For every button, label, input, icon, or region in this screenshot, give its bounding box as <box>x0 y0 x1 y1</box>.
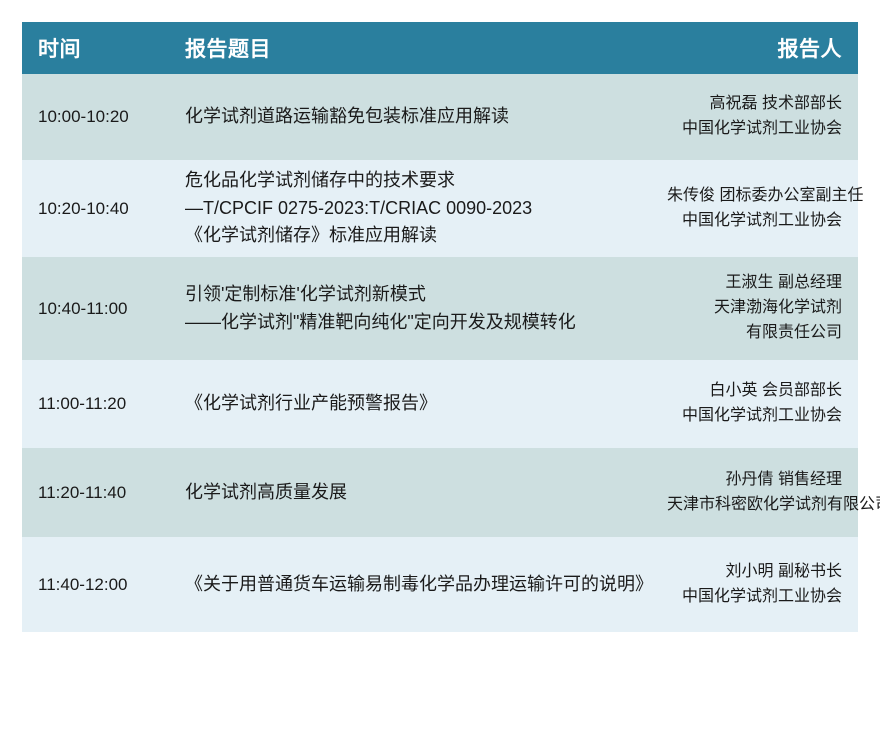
speaker-organization: 中国化学试剂工业协会 <box>667 117 842 142</box>
session-time: 11:20-11:40 <box>22 448 177 537</box>
table-header-row: 时间 报告题目 报告人 <box>22 22 858 74</box>
speaker-organization: 中国化学试剂工业协会 <box>667 209 842 234</box>
speaker-name-title: 高祝磊 技术部部长 <box>667 92 842 117</box>
table-row: 11:20-11:40 化学试剂高质量发展 孙丹倩 销售经理 天津市科密欧化学试… <box>22 448 858 537</box>
session-title-line: 化学试剂高质量发展 <box>185 479 667 507</box>
session-title: 危化品化学试剂储存中的技术要求 —T/CPCIF 0275-2023:T/CRI… <box>177 160 667 257</box>
session-title-line: 《关于用普通货车运输易制毒化学品办理运输许可的说明》 <box>185 571 667 599</box>
session-speaker: 王淑生 副总经理 天津渤海化学试剂 有限责任公司 <box>667 257 858 360</box>
session-title: 引领'定制标准'化学试剂新模式 ——化学试剂"精准靶向纯化"定向开发及规模转化 <box>177 257 667 360</box>
speaker-organization: 天津渤海化学试剂 <box>667 296 842 321</box>
speaker-organization: 天津市科密欧化学试剂有限公司 <box>667 493 842 518</box>
session-speaker: 孙丹倩 销售经理 天津市科密欧化学试剂有限公司 <box>667 448 858 537</box>
column-header-time: 时间 <box>22 22 177 74</box>
table-row: 10:00-10:20 化学试剂道路运输豁免包装标准应用解读 高祝磊 技术部部长… <box>22 74 858 160</box>
session-title: 化学试剂高质量发展 <box>177 448 667 537</box>
session-speaker: 白小英 会员部部长 中国化学试剂工业协会 <box>667 360 858 448</box>
session-speaker: 刘小明 副秘书长 中国化学试剂工业协会 <box>667 537 858 632</box>
session-title-line: ——化学试剂"精准靶向纯化"定向开发及规模转化 <box>185 309 667 337</box>
session-title-line: 《化学试剂储存》标准应用解读 <box>185 222 667 250</box>
table-row: 10:20-10:40 危化品化学试剂储存中的技术要求 —T/CPCIF 027… <box>22 160 858 257</box>
speaker-name-title: 白小英 会员部部长 <box>667 379 842 404</box>
session-title-line: 引领'定制标准'化学试剂新模式 <box>185 281 667 309</box>
table-row: 11:40-12:00 《关于用普通货车运输易制毒化学品办理运输许可的说明》 刘… <box>22 537 858 632</box>
table-row: 11:00-11:20 《化学试剂行业产能预警报告》 白小英 会员部部长 中国化… <box>22 360 858 448</box>
speaker-organization: 中国化学试剂工业协会 <box>667 404 842 429</box>
session-title-line: 《化学试剂行业产能预警报告》 <box>185 390 667 418</box>
speaker-name-title: 王淑生 副总经理 <box>667 271 842 296</box>
column-header-title: 报告题目 <box>177 22 667 74</box>
column-header-speaker: 报告人 <box>667 22 858 74</box>
session-time: 10:00-10:20 <box>22 74 177 160</box>
session-title: 化学试剂道路运输豁免包装标准应用解读 <box>177 74 667 160</box>
speaker-organization-cont: 有限责任公司 <box>667 321 842 346</box>
session-speaker: 朱传俊 团标委办公室副主任 中国化学试剂工业协会 <box>667 160 858 257</box>
session-time: 11:00-11:20 <box>22 360 177 448</box>
session-time: 10:40-11:00 <box>22 257 177 360</box>
speaker-name-title: 孙丹倩 销售经理 <box>667 468 842 493</box>
speaker-organization: 中国化学试剂工业协会 <box>667 585 842 610</box>
speaker-name-title: 朱传俊 团标委办公室副主任 <box>667 184 842 209</box>
table-body: 10:00-10:20 化学试剂道路运输豁免包装标准应用解读 高祝磊 技术部部长… <box>22 74 858 632</box>
table-row: 10:40-11:00 引领'定制标准'化学试剂新模式 ——化学试剂"精准靶向纯… <box>22 257 858 360</box>
session-time: 11:40-12:00 <box>22 537 177 632</box>
conference-agenda-table: 时间 报告题目 报告人 10:00-10:20 化学试剂道路运输豁免包装标准应用… <box>22 22 858 632</box>
session-title-line: —T/CPCIF 0275-2023:T/CRIAC 0090-2023 <box>185 195 667 223</box>
session-title-line: 化学试剂道路运输豁免包装标准应用解读 <box>185 103 667 131</box>
session-speaker: 高祝磊 技术部部长 中国化学试剂工业协会 <box>667 74 858 160</box>
speaker-name-title: 刘小明 副秘书长 <box>667 560 842 585</box>
session-title: 《关于用普通货车运输易制毒化学品办理运输许可的说明》 <box>177 537 667 632</box>
table-header: 时间 报告题目 报告人 <box>22 22 858 74</box>
session-title: 《化学试剂行业产能预警报告》 <box>177 360 667 448</box>
session-title-line: 危化品化学试剂储存中的技术要求 <box>185 167 667 195</box>
session-time: 10:20-10:40 <box>22 160 177 257</box>
